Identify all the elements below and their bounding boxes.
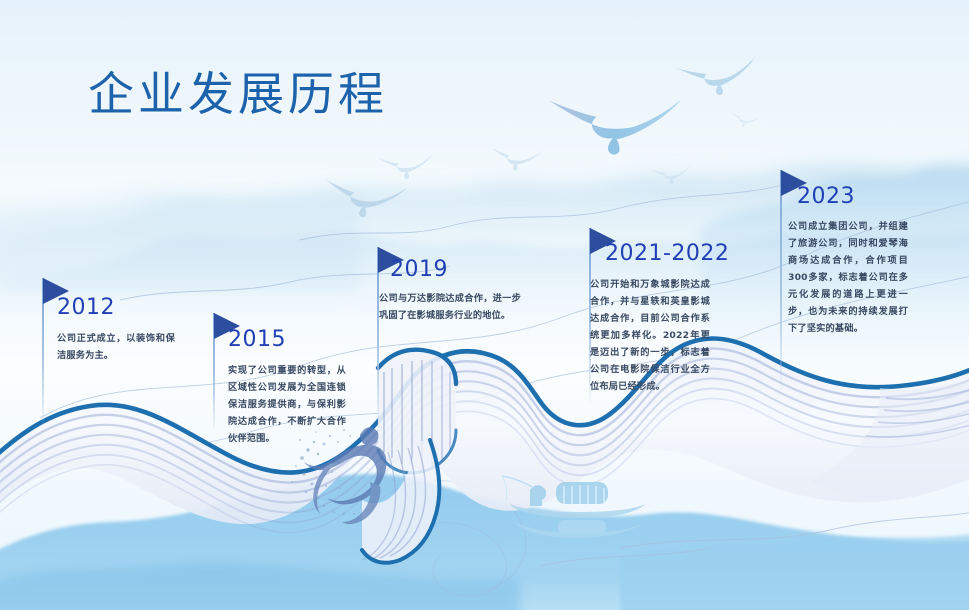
bird-far-right xyxy=(650,164,694,186)
ribbon-tail xyxy=(362,440,439,563)
milestone-body-2015: 实现了公司重要的转型，从区域性公司发展为全国连锁保洁服务提供商，与保利影院达成合… xyxy=(228,362,346,447)
cloud-bank-left xyxy=(0,193,360,290)
bird-tiny-right xyxy=(728,111,762,130)
flag-pole-icon xyxy=(780,170,782,390)
milestone-year-2019: 2019 xyxy=(390,257,448,282)
water-wash-bottom-right xyxy=(620,532,969,610)
milestone-year-2015: 2015 xyxy=(228,327,286,352)
fishing-boat-silhouette xyxy=(502,476,646,538)
bird-mid-left xyxy=(378,154,435,181)
water-wash-bottom-left xyxy=(0,563,520,610)
bird-mid-right xyxy=(490,148,542,173)
infographic-canvas: 企业发展历程 2012 公司正式成立，以装饰和保洁服务为主。 2015 实现了公… xyxy=(0,0,969,610)
milestone-year-2021-2022: 2021-2022 xyxy=(605,241,729,266)
bird-upper-right xyxy=(677,56,760,100)
milestone-year-2012: 2012 xyxy=(57,295,115,320)
milestone-body-2021-2022: 公司开始和万象城影院达成合作，并与星轶和英皇影城达成合作，目前公司合作系统更加多… xyxy=(590,276,710,395)
milestone-body-2012: 公司正式成立，以装饰和保洁服务为主。 xyxy=(57,330,175,364)
bird-large-center xyxy=(549,99,682,154)
milestone-body-2019: 公司与万达影院达成合作，进一步巩固了在影城服务行业的地位。 xyxy=(379,290,521,324)
bird-left-small xyxy=(322,179,408,222)
milestone-year-2023: 2023 xyxy=(797,184,855,209)
flag-pole-icon xyxy=(377,247,379,427)
ribbon-right-tail xyxy=(808,374,969,498)
decorative-swirl xyxy=(380,481,526,596)
ribbon-main xyxy=(0,338,969,532)
milestone-body-2023: 公司成立集团公司，并组建了旅游公司，同时和爱琴海商场达成合作，合作项目300多家… xyxy=(788,218,908,337)
mountain-range-bottom xyxy=(0,474,969,610)
page-title: 企业发展历程 xyxy=(88,58,388,124)
ribbon-fold xyxy=(378,350,456,473)
